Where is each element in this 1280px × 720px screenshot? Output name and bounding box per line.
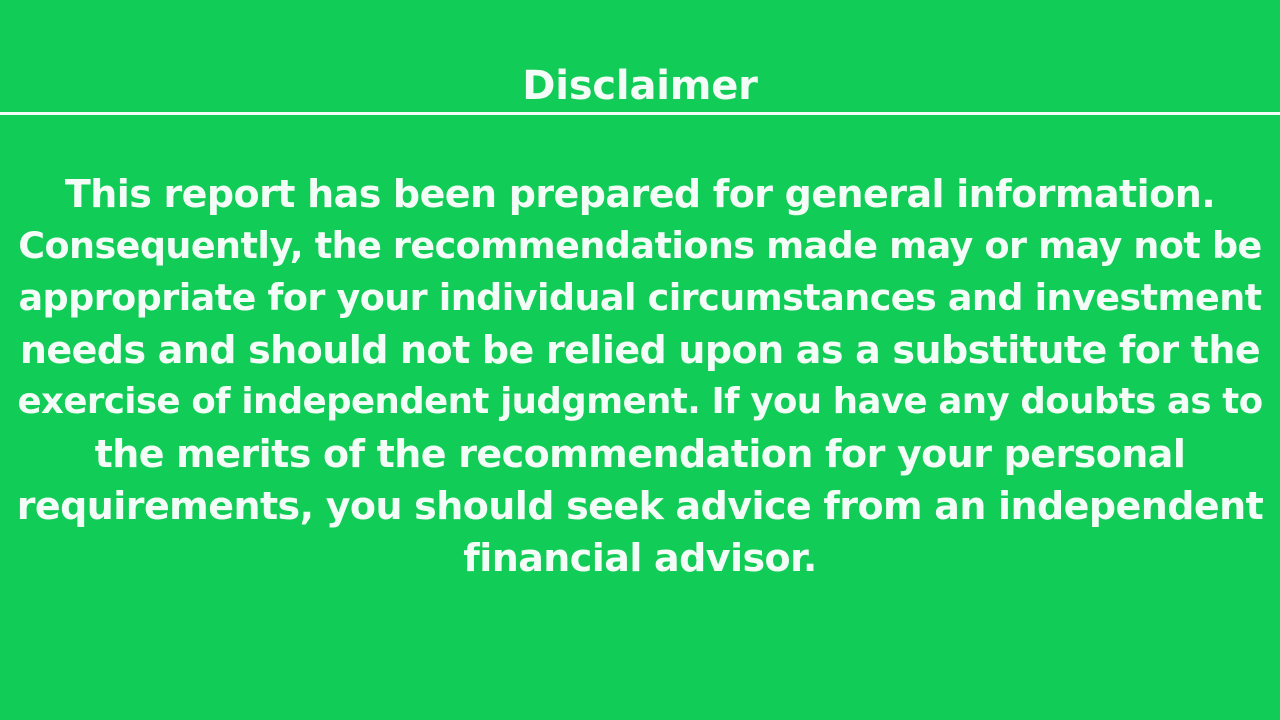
body-line-5: exercise of independent judgment. If you…: [16, 376, 1264, 428]
title-underline: [0, 112, 1280, 115]
body-line-7: requirements, you should seek advice fro…: [16, 480, 1264, 532]
body-line-4: needs and should not be relied upon as a…: [16, 324, 1264, 376]
disclaimer-body: This report has been prepared for genera…: [16, 168, 1264, 584]
body-line-8: financial advisor.: [16, 532, 1264, 584]
body-line-1: This report has been prepared for genera…: [16, 168, 1264, 220]
body-line-6: the merits of the recommendation for you…: [16, 428, 1264, 480]
page-title-text: Disclaimer: [522, 62, 757, 112]
body-line-2: Consequently, the recommendations made m…: [16, 220, 1264, 272]
disclaimer-slide: Disclaimer This report has been prepared…: [0, 0, 1280, 720]
page-title: Disclaimer: [0, 62, 1280, 112]
body-line-3: appropriate for your individual circumst…: [16, 272, 1264, 324]
